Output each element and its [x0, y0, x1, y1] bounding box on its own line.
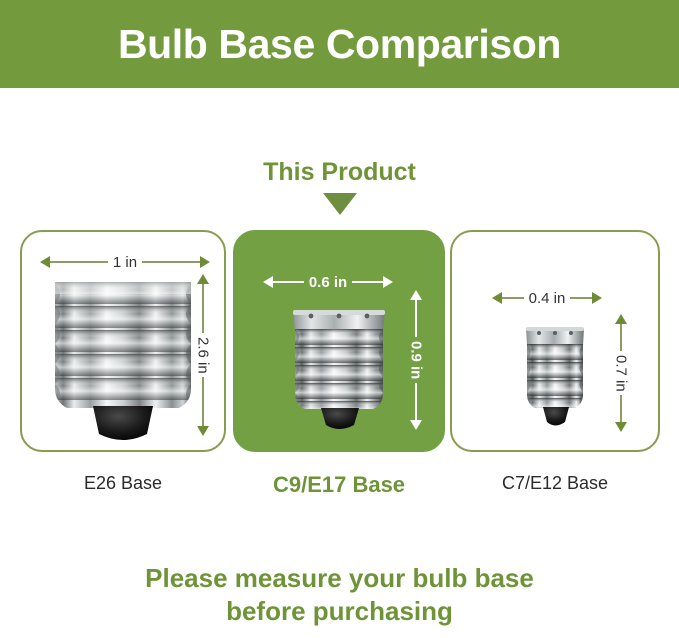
dimension-line — [202, 377, 204, 426]
dimension-line — [502, 297, 524, 299]
arrow-down-icon — [410, 420, 422, 430]
dimension-line — [273, 281, 304, 283]
dimension-height-e26: 2.6 in — [194, 274, 212, 436]
dimension-width-label: 1 in — [108, 255, 142, 270]
panel-c9e17[interactable]: 0.6 in 0.9 in C9/E17 Base — [233, 230, 445, 500]
arrow-left-icon — [492, 292, 502, 304]
triangle-down-icon — [323, 193, 357, 215]
dimension-line — [50, 261, 108, 263]
this-product-callout: This Product — [0, 160, 679, 215]
dimension-line — [352, 281, 383, 283]
panel-e26[interactable]: 1 in 2.6 in E26 Base — [20, 230, 226, 500]
dimension-line — [570, 297, 592, 299]
dimension-line — [620, 395, 622, 422]
arrow-left-icon — [40, 256, 50, 268]
base-comparison-row: 1 in 2.6 in E26 Base — [0, 230, 679, 500]
arrow-up-icon — [410, 290, 422, 300]
dimension-height-c7e12: 0.7 in — [612, 314, 630, 432]
panel-c7e12[interactable]: 0.4 in 0.7 in C7/E12 Base — [450, 230, 660, 500]
arrow-left-icon — [263, 276, 273, 288]
arrow-right-icon — [200, 256, 210, 268]
arrow-up-icon — [615, 314, 627, 324]
panel-c9e17-box: 0.6 in 0.9 in — [233, 230, 445, 452]
page-title: Bulb Base Comparison — [118, 24, 561, 65]
footer-note: Please measure your bulb base before pur… — [0, 562, 679, 628]
dimension-line — [142, 261, 200, 263]
dimension-line — [620, 324, 622, 351]
header-band: Bulb Base Comparison — [0, 0, 679, 88]
arrow-right-icon — [592, 292, 602, 304]
dimension-height-label: 0.9 in — [409, 337, 424, 383]
arrow-down-icon — [615, 422, 627, 432]
dimension-width-c7e12: 0.4 in — [492, 290, 602, 306]
dimension-width-e26: 1 in — [40, 254, 210, 270]
dimension-width-label: 0.4 in — [524, 291, 571, 306]
arrow-right-icon — [383, 276, 393, 288]
dimension-line — [415, 300, 417, 337]
this-product-label: This Product — [263, 160, 416, 185]
dimension-width-label: 0.6 in — [304, 275, 352, 290]
dimension-height-c9e17: 0.9 in — [407, 290, 425, 430]
panel-c7e12-box: 0.4 in 0.7 in — [450, 230, 660, 452]
panel-e26-box: 1 in 2.6 in — [20, 230, 226, 452]
panel-label-e26: E26 Base — [20, 474, 226, 492]
arrow-up-icon — [197, 274, 209, 284]
dimension-line — [202, 284, 204, 333]
footer-line-2: before purchasing — [0, 595, 679, 628]
dimension-height-label: 2.6 in — [196, 333, 211, 378]
dimension-width-c9e17: 0.6 in — [263, 274, 393, 290]
dimension-height-label: 0.7 in — [614, 351, 629, 396]
dimension-line — [415, 383, 417, 420]
footer-line-1: Please measure your bulb base — [0, 562, 679, 595]
panel-label-c9e17: C9/E17 Base — [233, 474, 445, 496]
arrow-down-icon — [197, 426, 209, 436]
panel-label-c7e12: C7/E12 Base — [450, 474, 660, 492]
